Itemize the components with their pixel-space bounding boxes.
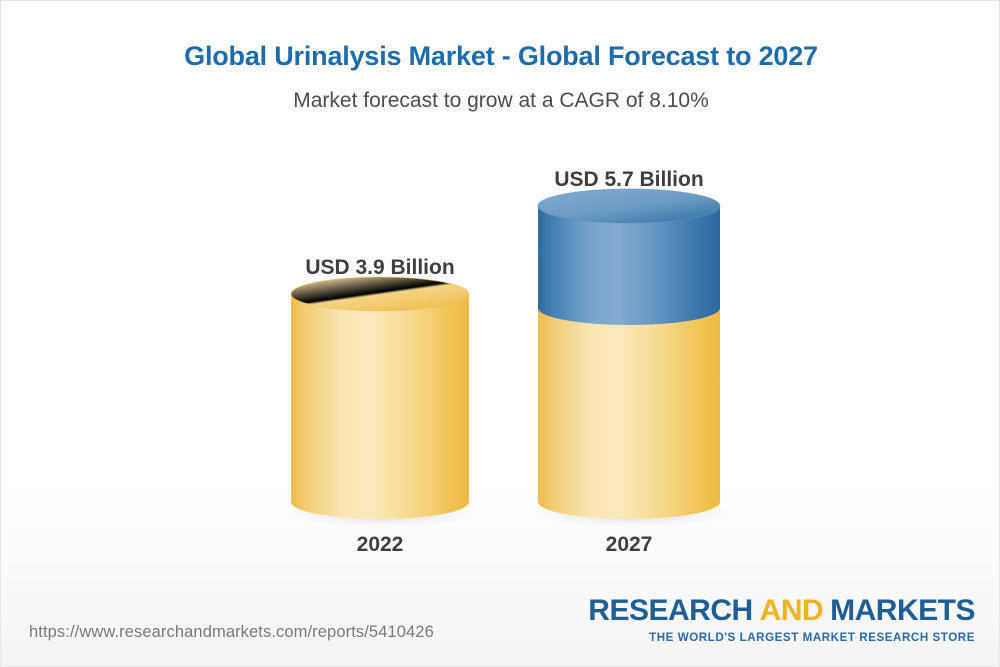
brand-wordmark: RESEARCHANDMARKETS <box>588 596 975 626</box>
infographic-canvas: Global Urinalysis Market - Global Foreca… <box>0 0 1000 667</box>
chart-title: Global Urinalysis Market - Global Foreca… <box>1 41 1000 72</box>
cylinder-bar-2027 <box>533 151 725 526</box>
brand-logo[interactable]: RESEARCHANDMARKETS THE WORLD'S LARGEST M… <box>588 596 975 644</box>
chart-subtitle: Market forecast to grow at a CAGR of 8.1… <box>1 89 1000 113</box>
brand-tagline: THE WORLD'S LARGEST MARKET RESEARCH STOR… <box>588 632 975 644</box>
brand-word-and: AND <box>760 594 824 627</box>
bar-body-growth-2027 <box>538 206 720 325</box>
brand-word-markets: MARKETS <box>830 594 975 627</box>
bar-category-label-2022: 2022 <box>287 533 473 557</box>
source-url[interactable]: https://www.researchandmarkets.com/repor… <box>29 623 434 642</box>
brand-word-research: RESEARCH <box>588 594 752 627</box>
bar-body-2022 <box>291 294 469 519</box>
bar-category-label-2027: 2027 <box>533 533 725 557</box>
cylinder-bar-2022 <box>287 151 473 526</box>
